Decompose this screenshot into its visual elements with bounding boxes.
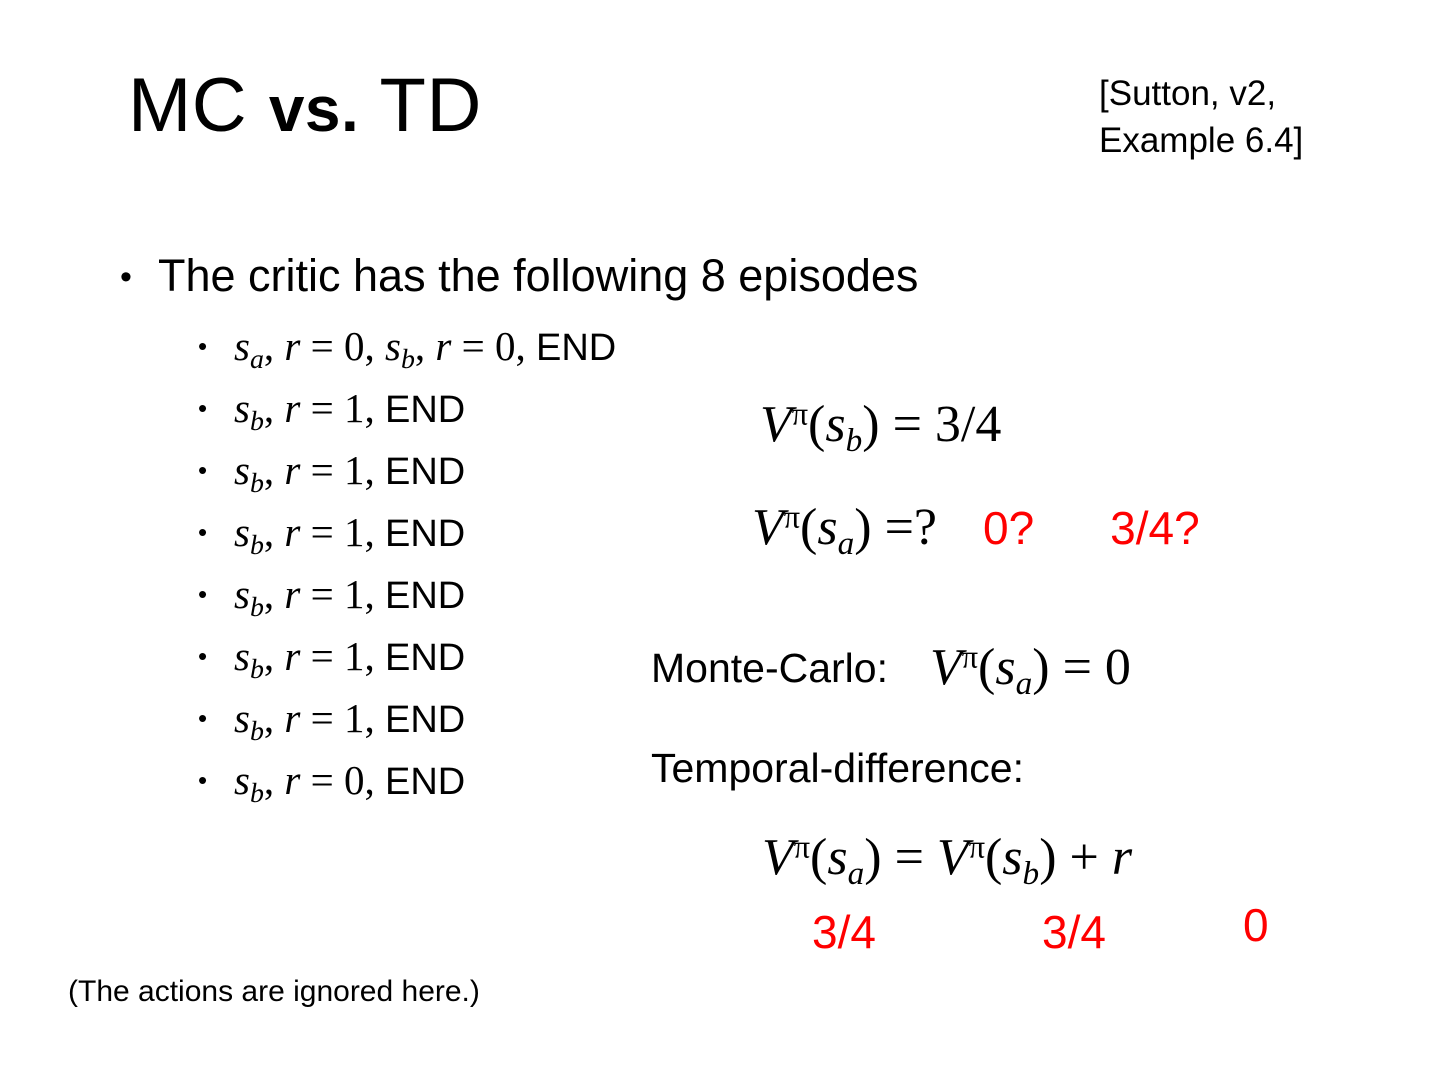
terminal-label: END	[385, 451, 465, 493]
footer-note: (The actions are ignored here.)	[68, 975, 480, 1009]
terminal-label: END	[385, 761, 465, 803]
reward-value: 1	[344, 695, 365, 741]
state-symbol: s	[817, 499, 837, 556]
episode-expression: sb, r = 1, END	[234, 447, 465, 493]
reward-symbol: r	[284, 509, 300, 555]
reward-symbol: r	[435, 323, 451, 369]
paren-open: (	[800, 499, 817, 556]
reward-value: 0	[495, 323, 516, 369]
value-function-symbol: V	[762, 829, 794, 886]
paren-close: )	[1039, 829, 1056, 886]
policy-superscript: π	[792, 395, 808, 431]
value-function-symbol: V	[760, 396, 792, 453]
episode-expression: sb, r = 0, END	[234, 757, 465, 803]
state-subscript: b	[846, 422, 863, 459]
episode-expression: sb, r = 1, END	[234, 633, 465, 679]
equation-temporal-difference: Vπ(sa) = Vπ(sb) + r	[762, 828, 1132, 893]
episode-expression: sb, r = 1, END	[234, 385, 465, 431]
title-part-vs: vs.	[269, 73, 359, 145]
episode-expression: sb, r = 1, END	[234, 695, 465, 741]
candidate-answer-three-quarters: 3/4?	[1110, 502, 1200, 554]
state-symbol: s	[234, 447, 250, 493]
state-subscript: a	[250, 344, 264, 375]
list-item: •sb, r = 1, END	[198, 508, 616, 570]
equation-result: 0	[1105, 639, 1131, 696]
citation-line-1: [Sutton, v2,	[1099, 70, 1399, 117]
state-symbol: s	[234, 757, 250, 803]
list-item: •sb, r = 1, END	[198, 570, 616, 632]
reward-symbol: r	[284, 757, 300, 803]
terminal-label: END	[536, 327, 616, 369]
reward-symbol: r	[284, 695, 300, 741]
paren-open: (	[808, 396, 825, 453]
bullet-marker-icon: •	[198, 331, 234, 362]
citation-line-2: Example 6.4]	[1099, 117, 1399, 164]
policy-superscript: π	[969, 828, 985, 864]
state-symbol: s	[385, 323, 401, 369]
equals-sign: =	[1050, 639, 1105, 696]
terminal-label: END	[385, 513, 465, 555]
terminal-label: END	[385, 575, 465, 617]
equals-sign: =	[880, 396, 935, 453]
reward-symbol: r	[284, 323, 300, 369]
reward-symbol: r	[1112, 829, 1132, 886]
main-bullet-label: The critic has the following 8 episodes	[158, 250, 918, 301]
reward-value: 1	[344, 447, 365, 493]
candidate-answer-zero: 0?	[983, 502, 1034, 554]
list-item: •sb, r = 1, END	[198, 694, 616, 756]
state-subscript: b	[250, 530, 264, 561]
equals-sign: =	[300, 385, 344, 431]
equation-value-sa-question: Vπ(sa) =?0?3/4?	[752, 498, 1200, 563]
reward-symbol: r	[284, 633, 300, 679]
state-symbol: s	[234, 633, 250, 679]
equation-result: 3/4	[935, 396, 1001, 453]
paren-close: )	[864, 829, 881, 886]
list-item: •sa, r = 0, sb, r = 0, END	[198, 322, 616, 384]
bullet-marker-icon: •	[198, 517, 234, 548]
state-symbol: s	[1002, 829, 1022, 886]
value-function-symbol: V	[930, 639, 962, 696]
list-item: •sb, r = 0, END	[198, 756, 616, 818]
reward-symbol: r	[284, 385, 300, 431]
state-subscript: b	[250, 716, 264, 747]
state-symbol: s	[234, 695, 250, 741]
state-symbol: s	[234, 571, 250, 617]
state-symbol: s	[234, 509, 250, 555]
terminal-label: END	[385, 637, 465, 679]
value-function-symbol: V	[752, 499, 784, 556]
main-bullet: •The critic has the following 8 episodes	[120, 250, 918, 302]
td-annotation-reward: 0	[1243, 898, 1269, 952]
equals-question: =?	[872, 499, 937, 556]
equation-value-sb: Vπ(sb) = 3/4	[760, 395, 1001, 460]
list-item: •sb, r = 1, END	[198, 446, 616, 508]
equals-sign: =	[300, 323, 344, 369]
state-subscript: a	[838, 525, 855, 562]
equals-sign: =	[882, 829, 937, 886]
reward-value: 1	[344, 571, 365, 617]
bullet-marker-icon: •	[198, 703, 234, 734]
equals-sign: =	[300, 509, 344, 555]
paren-open: (	[810, 829, 827, 886]
policy-superscript: π	[962, 638, 978, 674]
bullet-marker-icon: •	[120, 258, 158, 297]
state-subscript: a	[1016, 665, 1033, 702]
value-function-symbol: V	[937, 829, 969, 886]
plus-sign: +	[1057, 829, 1112, 886]
title-part-mc: MC	[128, 63, 269, 148]
temporal-difference-label: Temporal-difference:	[651, 745, 1024, 792]
citation-reference: [Sutton, v2, Example 6.4]	[1099, 70, 1399, 165]
equals-sign: =	[300, 447, 344, 493]
title-part-td: TD	[359, 63, 482, 148]
reward-value: 0	[344, 757, 365, 803]
equals-sign: =	[300, 571, 344, 617]
state-subscript: a	[848, 855, 865, 892]
bullet-marker-icon: •	[198, 579, 234, 610]
reward-value: 0	[344, 323, 365, 369]
state-subscript: b	[250, 654, 264, 685]
terminal-label: END	[385, 389, 465, 431]
state-symbol: s	[825, 396, 845, 453]
equals-sign: =	[300, 695, 344, 741]
paren-open: (	[985, 829, 1002, 886]
state-subscript: b	[401, 344, 415, 375]
equals-sign: =	[300, 633, 344, 679]
policy-superscript: π	[784, 498, 800, 534]
monte-carlo-label: Monte-Carlo:	[651, 645, 888, 692]
state-symbol: s	[995, 639, 1015, 696]
slide-canvas: MC vs. TD [Sutton, v2, Example 6.4] •The…	[0, 0, 1442, 1082]
state-symbol: s	[234, 385, 250, 431]
reward-value: 1	[344, 633, 365, 679]
equals-sign: =	[300, 757, 344, 803]
state-symbol: s	[234, 323, 250, 369]
episode-expression: sb, r = 1, END	[234, 509, 465, 555]
td-annotation-lhs: 3/4	[812, 905, 876, 959]
reward-symbol: r	[284, 447, 300, 493]
reward-symbol: r	[284, 571, 300, 617]
state-subscript: b	[250, 592, 264, 623]
state-subscript: b	[1023, 855, 1040, 892]
paren-close: )	[854, 499, 871, 556]
reward-value: 1	[344, 385, 365, 431]
bullet-marker-icon: •	[198, 641, 234, 672]
state-subscript: b	[250, 468, 264, 499]
reward-value: 1	[344, 509, 365, 555]
state-symbol: s	[827, 829, 847, 886]
list-item: •sb, r = 1, END	[198, 384, 616, 446]
terminal-label: END	[385, 699, 465, 741]
page-title: MC vs. TD	[128, 68, 482, 144]
state-subscript: b	[250, 406, 264, 437]
td-annotation-rhs: 3/4	[1042, 905, 1106, 959]
policy-superscript: π	[794, 828, 810, 864]
bullet-marker-icon: •	[198, 393, 234, 424]
state-subscript: b	[250, 778, 264, 809]
list-item: •sb, r = 1, END	[198, 632, 616, 694]
equals-sign: =	[451, 323, 495, 369]
bullet-marker-icon: •	[198, 765, 234, 796]
bullet-marker-icon: •	[198, 455, 234, 486]
equation-monte-carlo: Vπ(sa) = 0	[930, 638, 1131, 703]
paren-open: (	[978, 639, 995, 696]
episode-expression: sa, r = 0, sb, r = 0, END	[234, 323, 616, 369]
episode-list: •sa, r = 0, sb, r = 0, END •sb, r = 1, E…	[198, 322, 616, 818]
paren-close: )	[1032, 639, 1049, 696]
paren-close: )	[862, 396, 879, 453]
episode-expression: sb, r = 1, END	[234, 571, 465, 617]
